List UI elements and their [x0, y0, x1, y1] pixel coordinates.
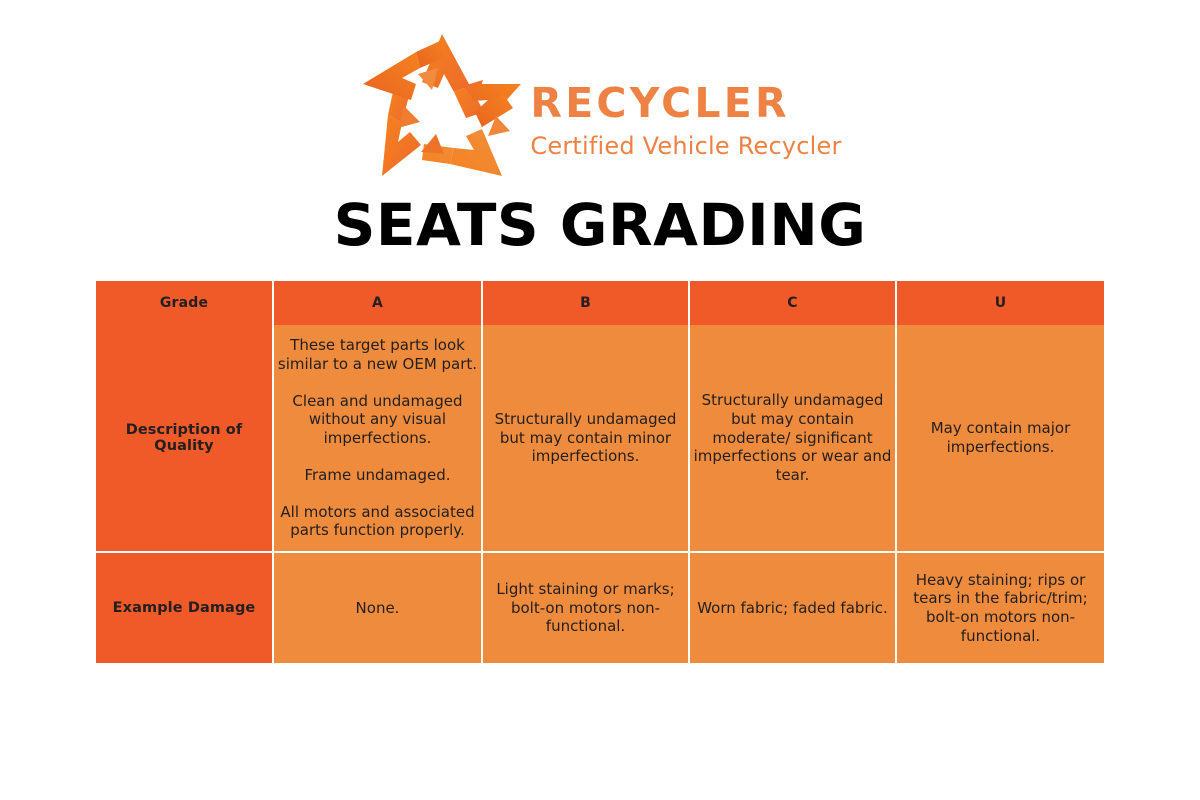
header-cell-grade-u: U: [897, 281, 1104, 325]
logo-wordmark: RECYCLER Certified Vehicle Recycler: [526, 51, 841, 159]
header-cell-grade-b: B: [483, 281, 690, 325]
logo-tagline: Certified Vehicle Recycler: [530, 133, 841, 159]
cell-example-a: None.: [274, 553, 483, 663]
cell-example-a-para-1: None.: [274, 599, 481, 618]
cell-description-a-para-2: Clean and undamaged without any visual i…: [274, 392, 481, 448]
cell-description-a: These target parts look similar to a new…: [274, 325, 483, 553]
cell-example-b: Light staining or marks; bolt-on motors …: [483, 553, 690, 663]
cell-example-b-para-1: Light staining or marks; bolt-on motors …: [483, 580, 688, 636]
table-row-description-of-quality: Description of Quality These target part…: [96, 325, 1104, 553]
seats-grading-infographic: RECYCLER Certified Vehicle Recycler SEAT…: [0, 0, 1200, 800]
cell-description-c: Structurally undamaged but may contain m…: [690, 325, 897, 553]
cell-description-a-para-4: All motors and associated parts function…: [274, 503, 481, 541]
cell-example-u-para-1: Heavy staining; rips or tears in the fab…: [897, 571, 1104, 646]
brand-logo: RECYCLER Certified Vehicle Recycler: [0, 30, 1200, 180]
recycling-star-logo-icon: [358, 30, 526, 180]
header-cell-grade-a: A: [274, 281, 483, 325]
cell-description-u: May contain major imperfections.: [897, 325, 1104, 553]
header-cell-grade-c: C: [690, 281, 897, 325]
row-label-example-damage: Example Damage: [96, 553, 274, 663]
star-arrow-segment-2: [472, 84, 521, 136]
cell-description-c-para-1: Structurally undamaged but may contain m…: [690, 391, 895, 485]
cell-description-a-para-1: These target parts look similar to a new…: [274, 336, 481, 374]
star-arrow-segment-5: [363, 40, 448, 100]
star-arrow-segment-4: [382, 87, 421, 176]
cell-example-c: Worn fabric; faded fabric.: [690, 553, 897, 663]
table-header-row: Grade A B C U: [96, 281, 1104, 325]
cell-description-a-para-3: Frame undamaged.: [274, 466, 481, 485]
grading-table: Grade A B C U Description of Quality The…: [96, 281, 1104, 663]
cell-description-u-para-1: May contain major imperfections.: [897, 419, 1104, 457]
cell-example-c-para-1: Worn fabric; faded fabric.: [690, 599, 895, 618]
table-row-example-damage: Example Damage None. Light staining or m…: [96, 553, 1104, 663]
logo-word: RECYCLER: [530, 83, 841, 124]
row-label-description-of-quality: Description of Quality: [96, 325, 274, 553]
page-title: SEATS GRADING: [0, 196, 1200, 254]
cell-example-u: Heavy staining; rips or tears in the fab…: [897, 553, 1104, 663]
cell-description-b: Structurally undamaged but may contain m…: [483, 325, 690, 553]
header-cell-grade: Grade: [96, 281, 274, 325]
cell-description-b-para-1: Structurally undamaged but may contain m…: [483, 410, 688, 466]
logo-inner: RECYCLER Certified Vehicle Recycler: [358, 30, 841, 180]
star-arrow-segment-3: [421, 129, 502, 176]
